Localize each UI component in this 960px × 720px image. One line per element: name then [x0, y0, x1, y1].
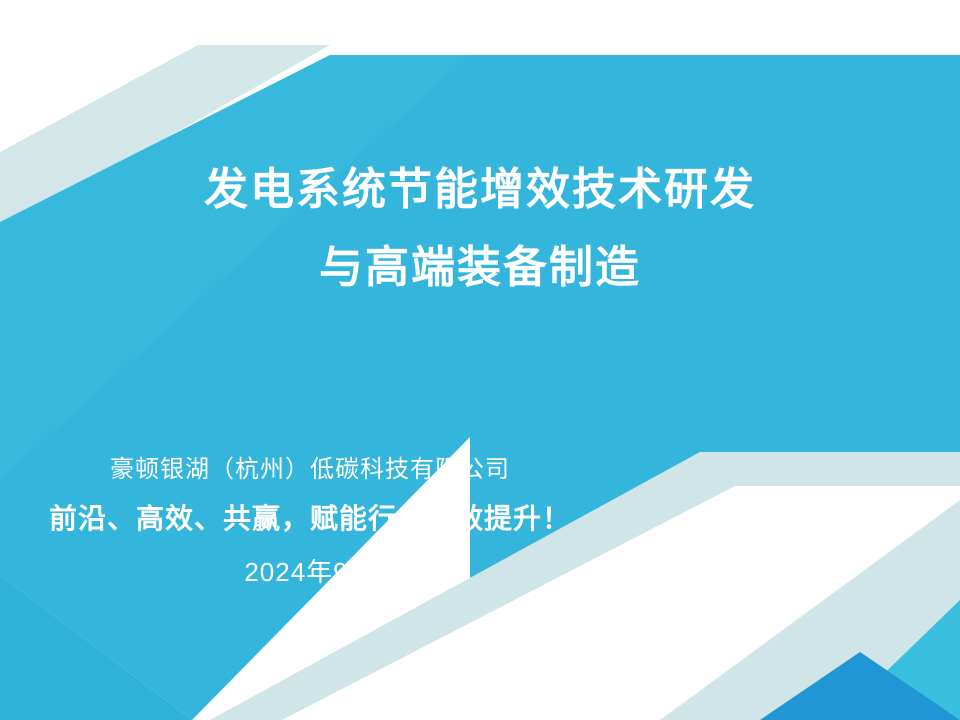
title-line-2: 与高端装备制造	[0, 246, 960, 290]
title-line-1: 发电系统节能增效技术研发	[0, 168, 960, 212]
title-block: 发电系统节能增效技术研发 与高端装备制造	[0, 168, 960, 290]
subtitle-block: 豪顿银湖（杭州）低碳科技有限公司 前沿、高效、共赢，赋能行业能效提升！ 2024…	[0, 455, 620, 589]
tagline: 前沿、高效、共赢，赋能行业能效提升！	[0, 501, 620, 536]
slide-date: 2024年9月	[0, 556, 620, 589]
title-slide: 发电系统节能增效技术研发 与高端装备制造 豪顿银湖（杭州）低碳科技有限公司 前沿…	[0, 0, 960, 720]
company-name: 豪顿银湖（杭州）低碳科技有限公司	[0, 455, 620, 485]
slide-content: 发电系统节能增效技术研发 与高端装备制造 豪顿银湖（杭州）低碳科技有限公司 前沿…	[0, 0, 960, 720]
